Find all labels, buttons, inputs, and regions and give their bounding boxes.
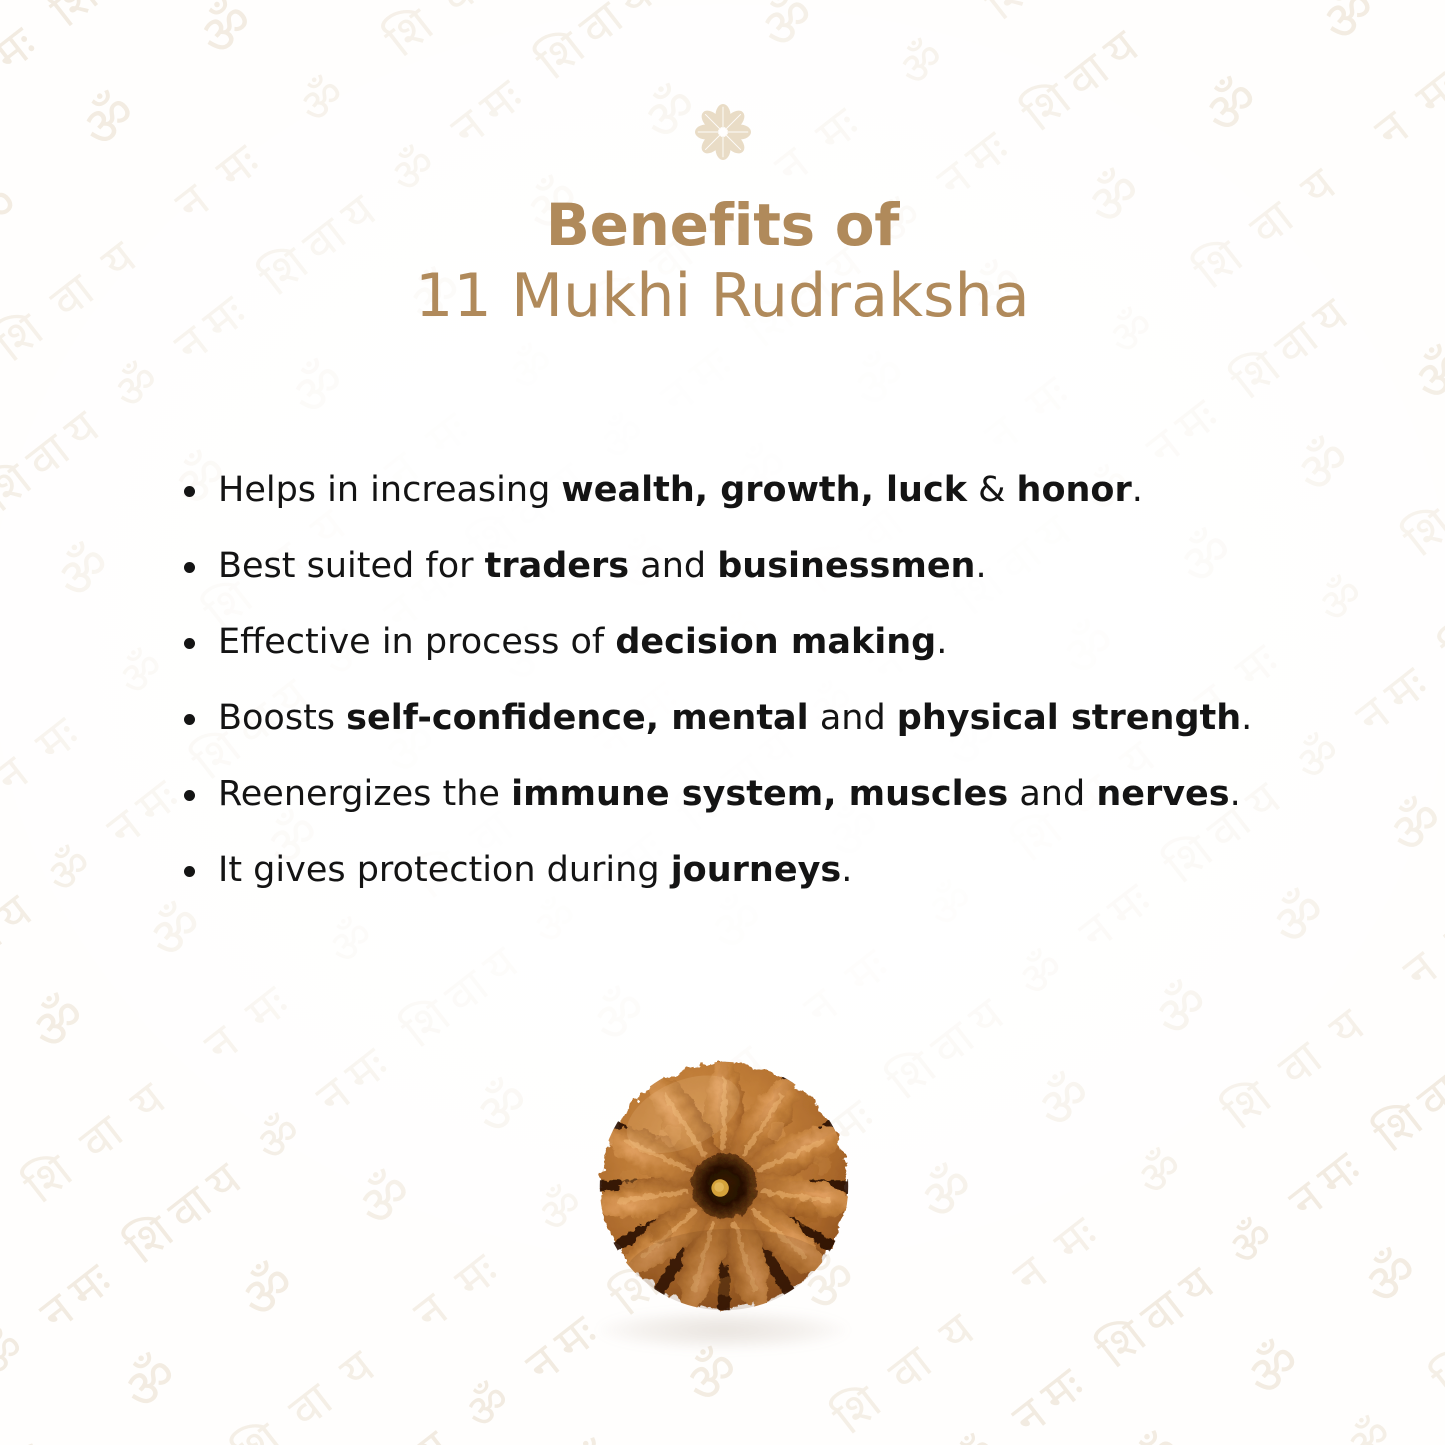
benefit-plain: .: [975, 546, 986, 586]
rudraksha-bead: [563, 1058, 883, 1358]
poster-content: Benefits of 11 Mukhi Rudraksha Helps in …: [0, 0, 1445, 1445]
benefit-plain: Effective in process of: [218, 622, 615, 662]
bullet-dot-icon: [184, 562, 195, 573]
benefit-emphasis: decision making: [615, 622, 936, 662]
benefit-emphasis: immune system, muscles: [511, 774, 1008, 814]
benefit-plain: .: [936, 622, 947, 662]
benefit-plain: Reenergizes the: [218, 774, 511, 814]
benefit-plain: .: [1241, 698, 1252, 738]
benefit-plain: &: [967, 470, 1017, 510]
benefit-plain: Boosts: [218, 698, 346, 738]
benefit-emphasis: traders: [485, 546, 630, 586]
page-title: Benefits of 11 Mukhi Rudraksha: [0, 190, 1445, 332]
benefit-text: Boosts self-confidence, mental and physi…: [218, 698, 1252, 738]
benefit-plain: It gives protection during: [218, 850, 671, 890]
benefits-list: Helps in increasing wealth, growth, luck…: [178, 470, 1358, 890]
benefit-emphasis: nerves: [1096, 774, 1229, 814]
title-line-2: 11 Mukhi Rudraksha: [0, 260, 1445, 332]
product-image-stage: [0, 1058, 1445, 1388]
benefit-plain: and: [809, 698, 897, 738]
benefit-item-6: It gives protection during journeys.: [178, 850, 1358, 890]
benefit-plain: and: [629, 546, 717, 586]
benefit-text: Best suited for traders and businessmen.: [218, 546, 987, 586]
benefit-item-5: Reenergizes the immune system, muscles a…: [178, 774, 1358, 814]
benefit-plain: and: [1008, 774, 1096, 814]
benefit-emphasis: self-confidence, mental: [346, 698, 809, 738]
title-line-1: Benefits of: [0, 190, 1445, 260]
bullet-dot-icon: [184, 790, 195, 801]
benefit-plain: .: [1132, 470, 1143, 510]
flower-rosette-icon: [695, 104, 751, 160]
benefit-plain: .: [841, 850, 852, 890]
rudraksha-bead-icon: [568, 1058, 880, 1320]
benefit-emphasis: businessmen: [717, 546, 975, 586]
benefit-text: Reenergizes the immune system, muscles a…: [218, 774, 1241, 814]
benefit-emphasis: journeys: [671, 850, 842, 890]
benefit-item-3: Effective in process of decision making.: [178, 622, 1358, 662]
bullet-dot-icon: [184, 714, 195, 725]
benefit-item-1: Helps in increasing wealth, growth, luck…: [178, 470, 1358, 510]
benefit-text: Helps in increasing wealth, growth, luck…: [218, 470, 1143, 510]
bullet-dot-icon: [184, 638, 195, 649]
benefit-plain: Best suited for: [218, 546, 485, 586]
bullet-dot-icon: [184, 866, 195, 877]
benefit-emphasis: honor: [1017, 470, 1132, 510]
benefit-item-4: Boosts self-confidence, mental and physi…: [178, 698, 1358, 738]
bullet-dot-icon: [184, 486, 195, 497]
benefit-emphasis: physical strength: [897, 698, 1241, 738]
benefit-text: It gives protection during journeys.: [218, 850, 852, 890]
benefit-text: Effective in process of decision making.: [218, 622, 947, 662]
ornament-container: [0, 104, 1445, 160]
benefit-emphasis: wealth, growth, luck: [561, 470, 967, 510]
benefit-plain: Helps in increasing: [218, 470, 561, 510]
benefits-poster: ॐ नमः शिवाय ॐ नमः शिवाय ॐ नमः शिवाय ॐ नम…: [0, 0, 1445, 1445]
benefit-plain: .: [1230, 774, 1241, 814]
benefit-item-2: Best suited for traders and businessmen.: [178, 546, 1358, 586]
